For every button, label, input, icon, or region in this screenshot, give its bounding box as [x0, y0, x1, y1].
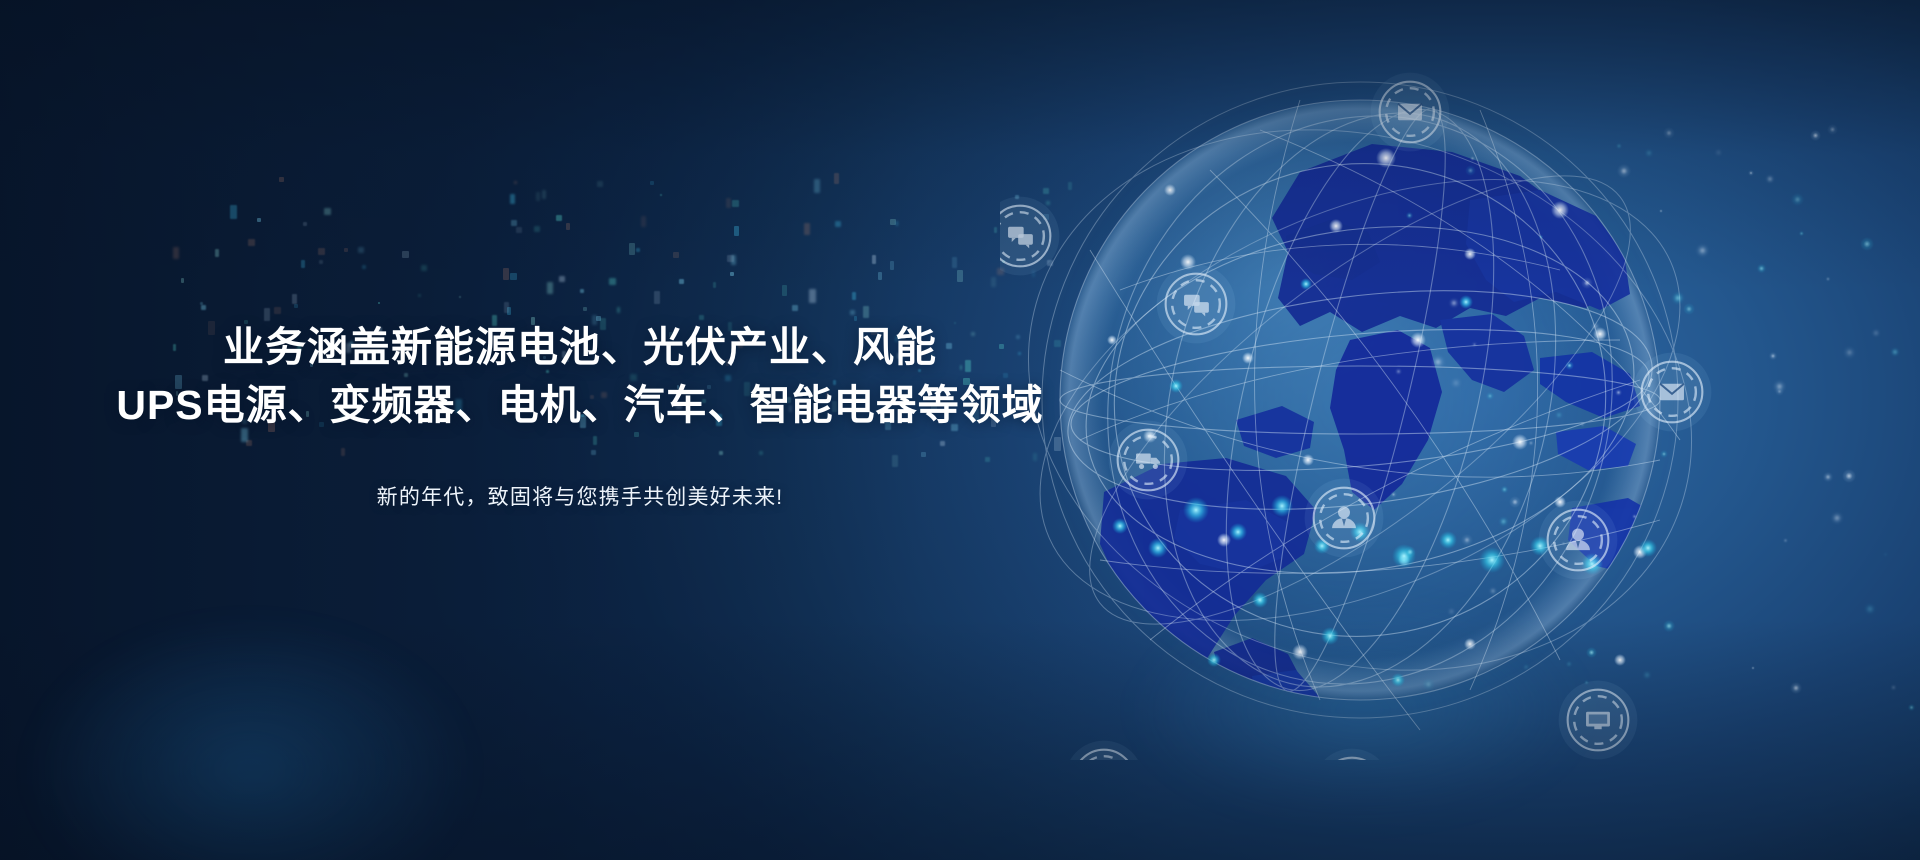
- headline-line-1: 业务涵盖新能源电池、光伏产业、风能: [0, 318, 1160, 376]
- banner-subtitle: 新的年代，致固将与您携手共创美好未来!: [0, 481, 1160, 511]
- banner-copy: 业务涵盖新能源电池、光伏产业、风能 UPS电源、变频器、电机、汽车、智能电器等领…: [0, 318, 1160, 511]
- headline-line-2: UPS电源、变频器、电机、汽车、智能电器等领域: [0, 376, 1160, 434]
- hero-banner: 业务涵盖新能源电池、光伏产业、风能 UPS电源、变频器、电机、汽车、智能电器等领…: [0, 0, 1920, 860]
